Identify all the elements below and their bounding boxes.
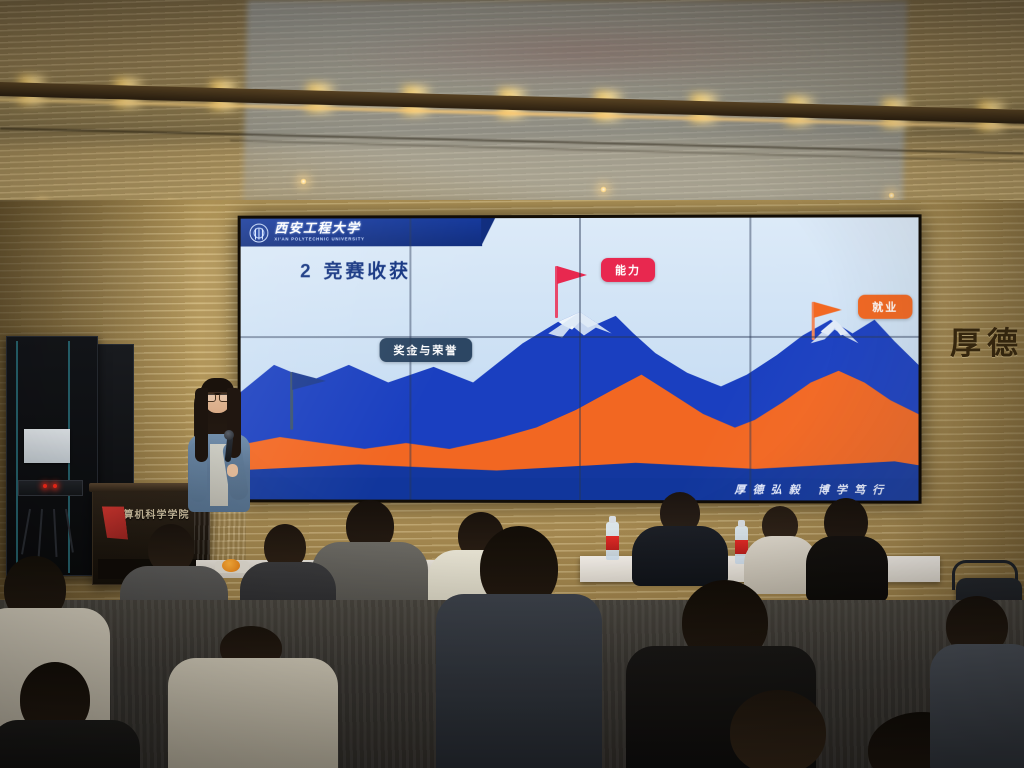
ceiling-warm-reflection [330,18,830,88]
microphone-capsule-icon [224,430,234,440]
audience-head [730,690,826,768]
slide-footer-motto: 厚德弘毅 博学笃行 [734,481,890,497]
audience-member [806,498,888,590]
audience-torso [436,594,602,768]
audience-member [168,626,338,768]
flag-icon-prize-honor [292,372,326,390]
wall-motto-text: 厚德 [950,318,1024,363]
rack-rail [16,341,18,573]
status-led-icon [53,484,57,488]
rack-control-panel [18,480,83,496]
panel-bezel-vertical [579,218,581,500]
university-name-en: XI'AN POLYTECHNIC UNIVERSITY [274,238,364,243]
flag-icon-employment [814,302,842,318]
rack-paper-note [24,429,70,463]
flag-icon-ability [557,266,587,284]
audience-torso [168,658,338,768]
rack-cable [38,509,43,557]
downlight-icon [600,186,607,193]
av-equipment-rack [6,336,98,576]
audience-member [436,526,602,768]
ceiling [0,0,1024,212]
university-identity: 西安工程大学 XI'AN POLYTECHNIC UNIVERSITY [274,223,364,242]
lecture-hall-scene: 厚德 西安工程大学 [0,0,1024,768]
water-bottle [606,522,619,560]
slide-title-text: 竞赛收获 [324,260,411,282]
bottle-label [606,536,619,550]
marker-label-prize-honor: 奖金与荣誉 [380,338,473,362]
marker-label-ability: 能力 [601,258,655,282]
audience-member [632,492,728,578]
audience-member [930,596,1024,768]
marker-label-employment: 就业 [858,295,912,319]
audience-torso [806,536,888,602]
downlight-icon [888,192,895,199]
audience-torso [930,644,1024,768]
university-seal-icon [250,223,269,242]
audience-torso [0,720,140,768]
video-wall[interactable]: 西安工程大学 XI'AN POLYTECHNIC UNIVERSITY 2竞赛收… [238,214,922,503]
rack-cable [53,509,58,557]
presenter-hair-left [195,388,208,462]
slide-header-bar: 西安工程大学 XI'AN POLYTECHNIC UNIVERSITY [241,218,483,246]
status-led-icon [43,484,47,488]
rack-cable [21,509,31,555]
university-name-cn: 西安工程大学 [274,223,364,236]
panel-bezel-vertical [749,218,751,501]
downlight-icon [300,178,307,185]
audience-torso [632,526,728,586]
panel-bezel-horizontal [241,336,919,338]
audience-member [0,662,140,768]
presenter-hand [227,464,238,477]
panel-bezel-vertical [409,218,411,499]
slide-title: 2竞赛收获 [300,256,411,283]
slide-title-number: 2 [300,261,313,282]
